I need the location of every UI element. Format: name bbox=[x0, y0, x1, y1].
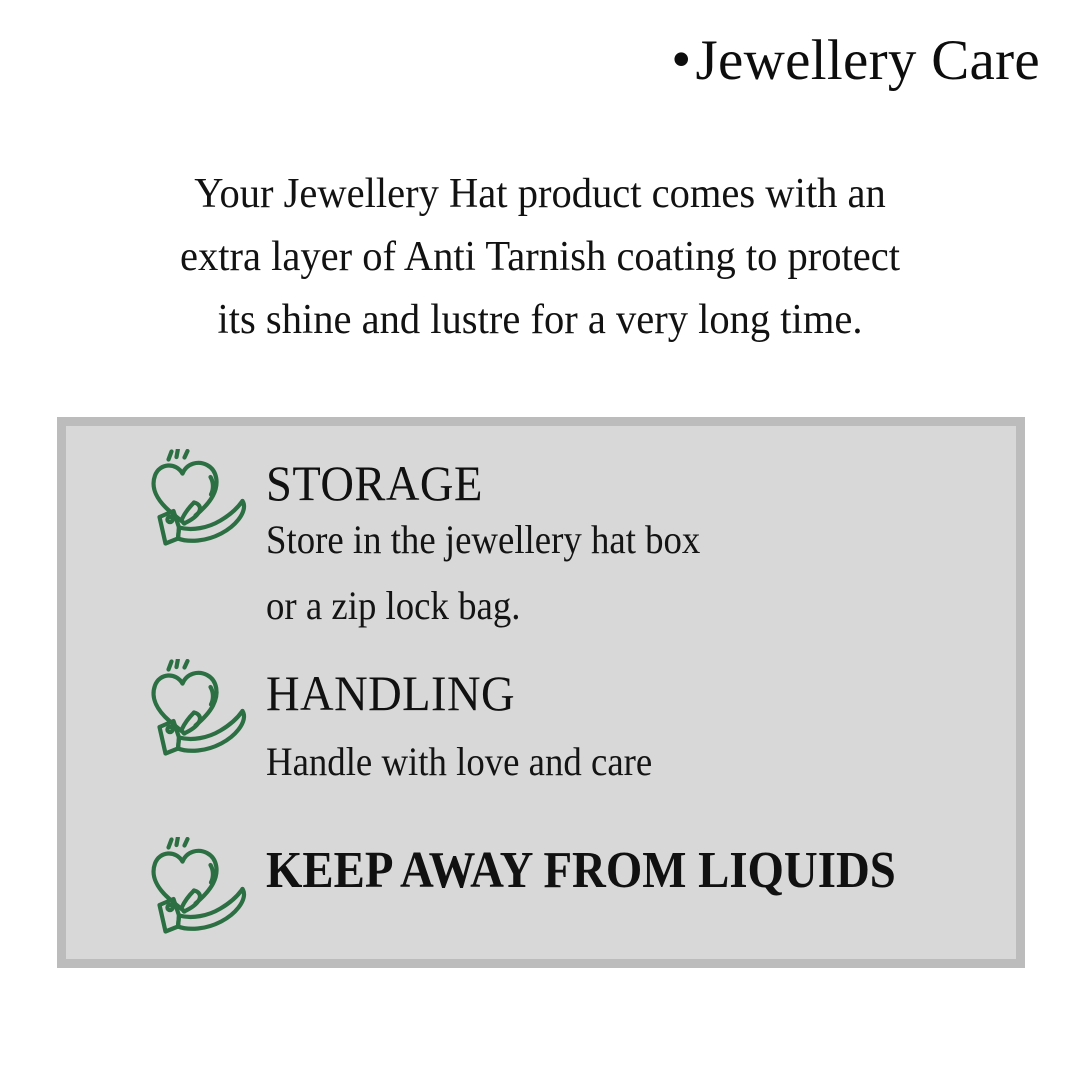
care-instructions-panel: STORAGE Store in the jewellery hat box o… bbox=[57, 417, 1025, 968]
intro-line-3: its shine and lustre for a very long tim… bbox=[77, 289, 1003, 352]
care-item-text: KEEP AWAY FROM LIQUIDS bbox=[266, 837, 966, 899]
care-item-handling: HANDLING Handle with love and care bbox=[146, 659, 686, 791]
care-instructions-list: STORAGE Store in the jewellery hat box o… bbox=[66, 426, 1016, 959]
intro-line-1: Your Jewellery Hat product comes with an bbox=[77, 163, 1003, 226]
heart-in-hand-icon bbox=[146, 837, 250, 937]
intro-paragraph: Your Jewellery Hat product comes with an… bbox=[77, 163, 1003, 352]
bullet-icon: • bbox=[671, 31, 691, 88]
care-body-storage-line-1: Store in the jewellery hat box bbox=[266, 511, 700, 569]
care-body-handling-line-1: Handle with love and care bbox=[266, 733, 652, 791]
care-heading-handling: HANDLING bbox=[266, 665, 656, 721]
care-heading-storage: STORAGE bbox=[266, 455, 705, 511]
care-item-text: HANDLING Handle with love and care bbox=[266, 659, 686, 791]
care-item-text: STORAGE Store in the jewellery hat box o… bbox=[266, 449, 738, 635]
care-heading-keep-away-from-liquids: KEEP AWAY FROM LIQUIDS bbox=[266, 843, 896, 899]
intro-line-2: extra layer of Anti Tarnish coating to p… bbox=[77, 226, 1003, 289]
care-item-keep-away-from-liquids: KEEP AWAY FROM LIQUIDS bbox=[146, 837, 966, 937]
heart-in-hand-icon bbox=[146, 449, 250, 549]
care-item-storage: STORAGE Store in the jewellery hat box o… bbox=[146, 449, 738, 635]
page-title: •Jewellery Care bbox=[671, 30, 1040, 93]
heart-in-hand-icon bbox=[146, 659, 250, 759]
page-title-text: Jewellery Care bbox=[696, 29, 1040, 92]
care-body-storage-line-2: or a zip lock bag. bbox=[266, 577, 700, 635]
